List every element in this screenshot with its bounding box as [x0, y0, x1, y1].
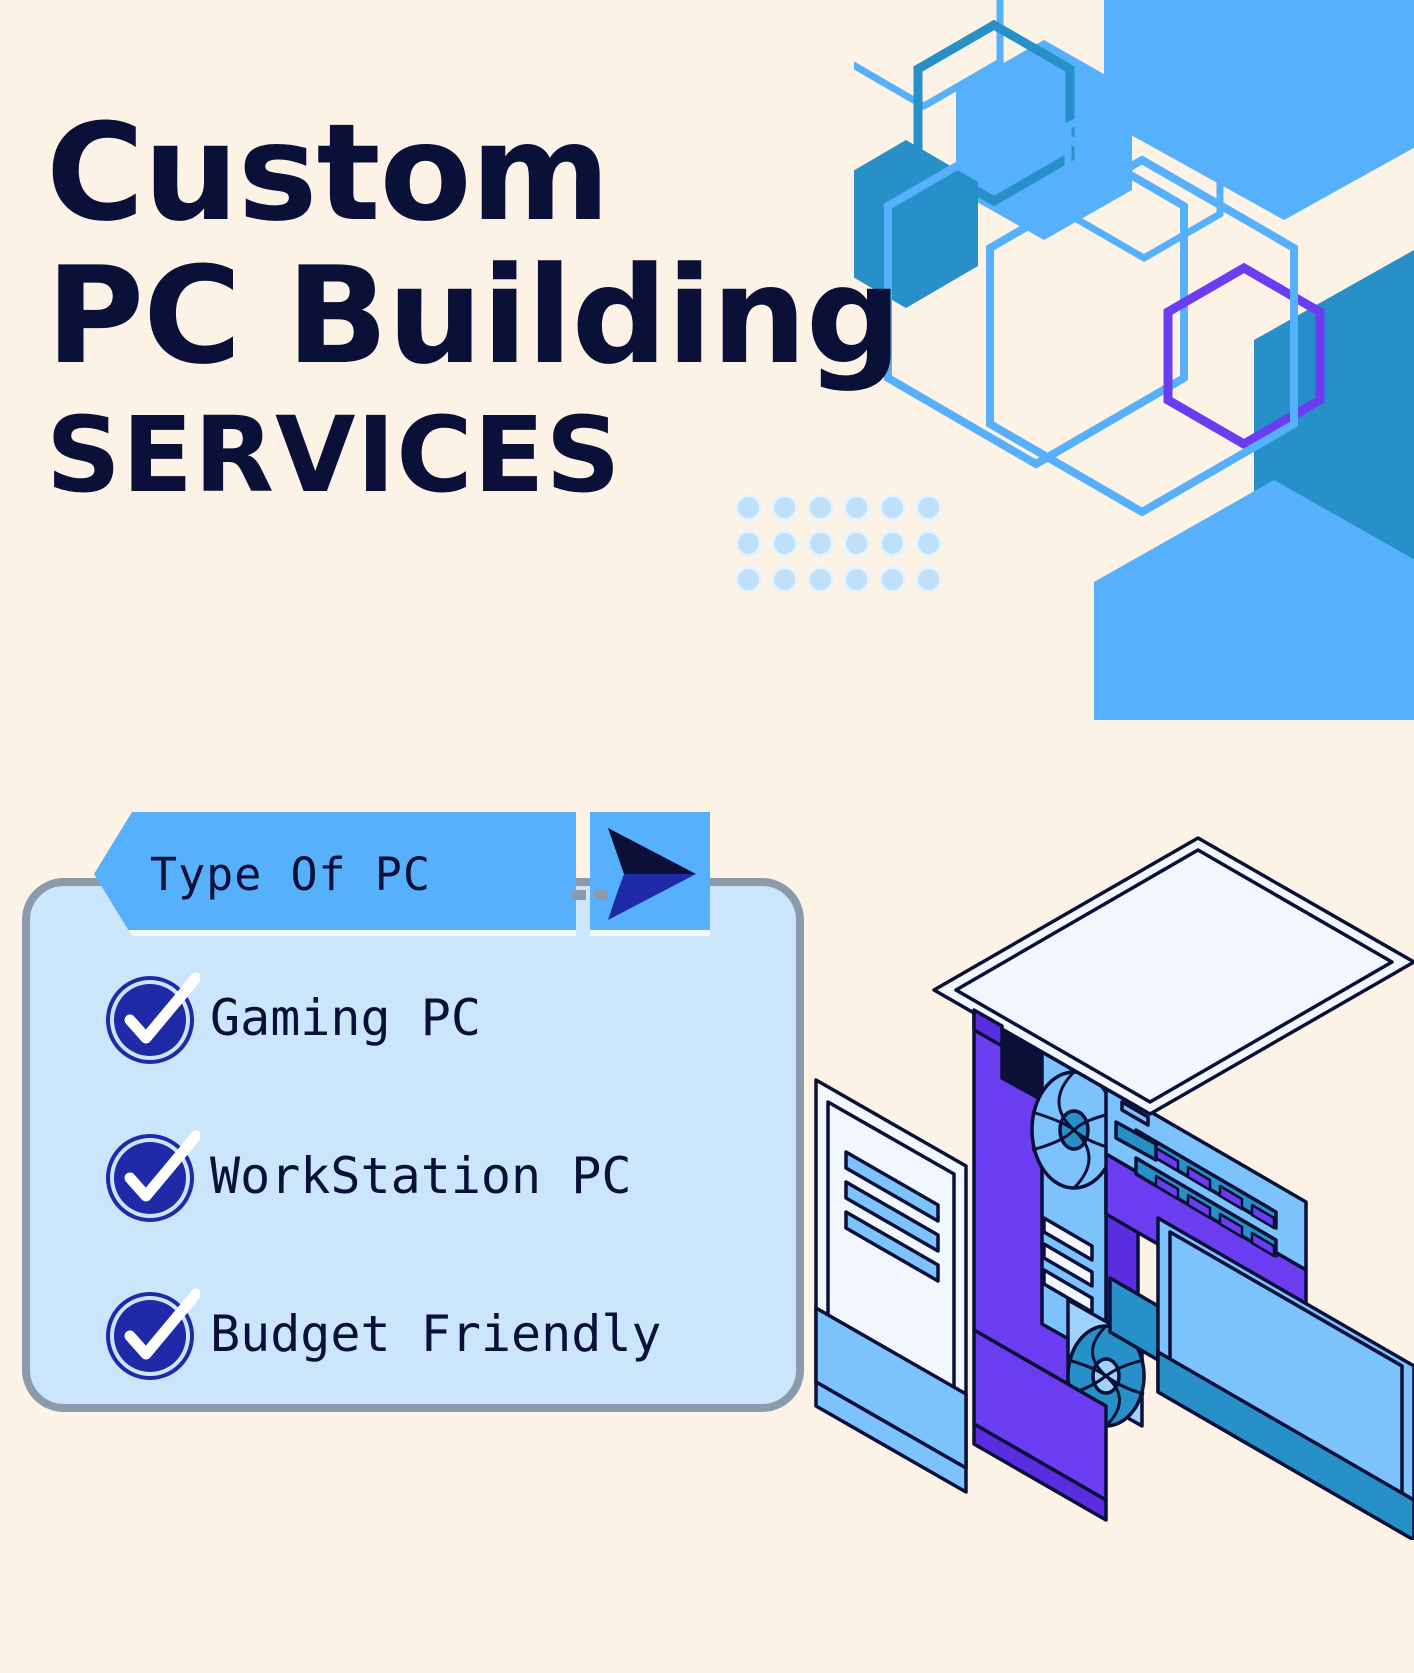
- dot: [807, 566, 834, 593]
- dot: [879, 566, 906, 593]
- banner-separator: [576, 812, 590, 936]
- hexagon-cluster-top-right: [854, 0, 1414, 720]
- list-item-label: Gaming PC: [210, 989, 481, 1047]
- play-arrow-button[interactable]: [590, 812, 710, 936]
- banner-body[interactable]: Type Of PC: [94, 812, 576, 936]
- list-item[interactable]: Gaming PC: [104, 970, 662, 1066]
- pc-type-list: Gaming PC WorkStation PC Budget Frie: [104, 970, 662, 1382]
- list-item-label: Budget Friendly: [210, 1305, 662, 1363]
- type-of-pc-banner[interactable]: Type Of PC: [94, 812, 710, 936]
- headline-line-2: PC Building: [46, 251, 901, 382]
- check-circle-icon: [104, 1128, 200, 1224]
- dot: [843, 566, 870, 593]
- banner-tick-marks: [94, 890, 810, 900]
- headline-line-3: SERVICES: [46, 405, 901, 507]
- dot: [879, 530, 906, 557]
- tick: [594, 890, 608, 900]
- dot: [771, 530, 798, 557]
- isometric-pc-illustration: [806, 800, 1414, 1540]
- page-title: Custom PC Building SERVICES: [46, 108, 901, 507]
- list-item[interactable]: WorkStation PC: [104, 1128, 662, 1224]
- dot: [807, 530, 834, 557]
- tick: [572, 890, 586, 900]
- dot: [735, 566, 762, 593]
- list-item-label: WorkStation PC: [210, 1147, 631, 1205]
- dot: [915, 530, 942, 557]
- decorative-dot-grid: [735, 494, 951, 602]
- list-item[interactable]: Budget Friendly: [104, 1286, 662, 1382]
- check-circle-icon: [104, 970, 200, 1066]
- play-arrow-icon: [604, 826, 696, 922]
- headline-line-1: Custom: [46, 108, 901, 239]
- dot: [915, 566, 942, 593]
- dot: [771, 566, 798, 593]
- dot: [915, 494, 942, 521]
- poster-canvas: Custom PC Building SERVICES Type Of PC: [0, 0, 1414, 1673]
- dot: [843, 530, 870, 557]
- dot: [735, 530, 762, 557]
- check-circle-icon: [104, 1286, 200, 1382]
